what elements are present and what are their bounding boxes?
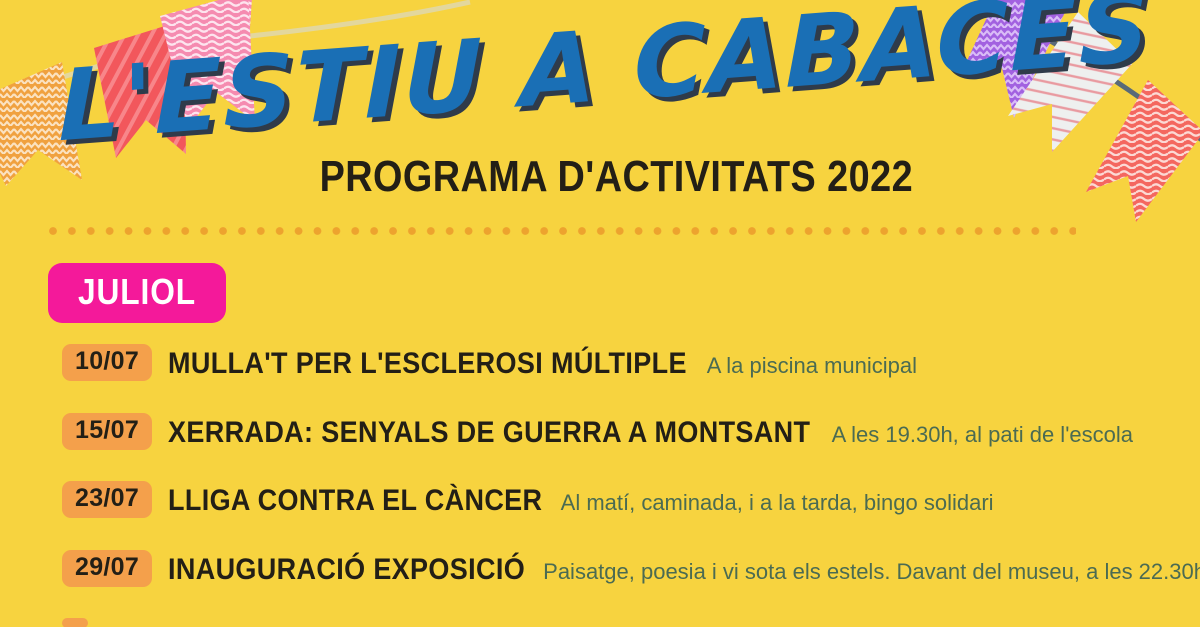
event-title: INAUGURACIÓ EXPOSICIÓ [168, 555, 525, 585]
event-description: A les 19.30h, al pati de l'escola [832, 424, 1133, 446]
month-badge-juliol: JULIOL [48, 263, 226, 323]
event-date-badge: 23/07 [62, 481, 152, 518]
list-item: 23/07 LLIGA CONTRA EL CÀNCER Al matí, ca… [0, 485, 1200, 554]
event-description: A la piscina municipal [707, 355, 917, 377]
event-date-badge: 29/07 [62, 550, 152, 587]
event-date-badge [62, 618, 88, 627]
dotted-divider [48, 226, 1076, 236]
event-title: LLIGA CONTRA EL CÀNCER [168, 486, 542, 516]
poster-root: L'ESTIU A CABACÉS PROGRAMA D'ACTIVITATS … [0, 0, 1200, 627]
list-item: 10/07 MULLA'T PER L'ESCLEROSI MÚLTIPLE A… [0, 348, 1200, 417]
event-title: XERRADA: SENYALS DE GUERRA A MONTSANT [168, 418, 810, 448]
event-description: Paisatge, poesia i vi sota els estels. D… [543, 561, 1200, 583]
page-title: L'ESTIU A CABACÉS [58, 0, 1151, 156]
event-title: MULLA'T PER L'ESCLEROSI MÚLTIPLE [168, 349, 687, 379]
list-item-partial [0, 622, 1200, 627]
event-date-badge: 15/07 [62, 413, 152, 450]
list-item: 29/07 INAUGURACIÓ EXPOSICIÓ Paisatge, po… [0, 554, 1200, 623]
event-description: Al matí, caminada, i a la tarda, bingo s… [561, 492, 994, 514]
page-subtitle: PROGRAMA D'ACTIVITATS 2022 [84, 152, 1116, 202]
event-list: 10/07 MULLA'T PER L'ESCLEROSI MÚLTIPLE A… [0, 348, 1200, 627]
headline-container: L'ESTIU A CABACÉS [0, 18, 1200, 116]
month-badge-label: JULIOL [78, 274, 196, 310]
event-date-badge: 10/07 [62, 344, 152, 381]
list-item: 15/07 XERRADA: SENYALS DE GUERRA A MONTS… [0, 417, 1200, 486]
